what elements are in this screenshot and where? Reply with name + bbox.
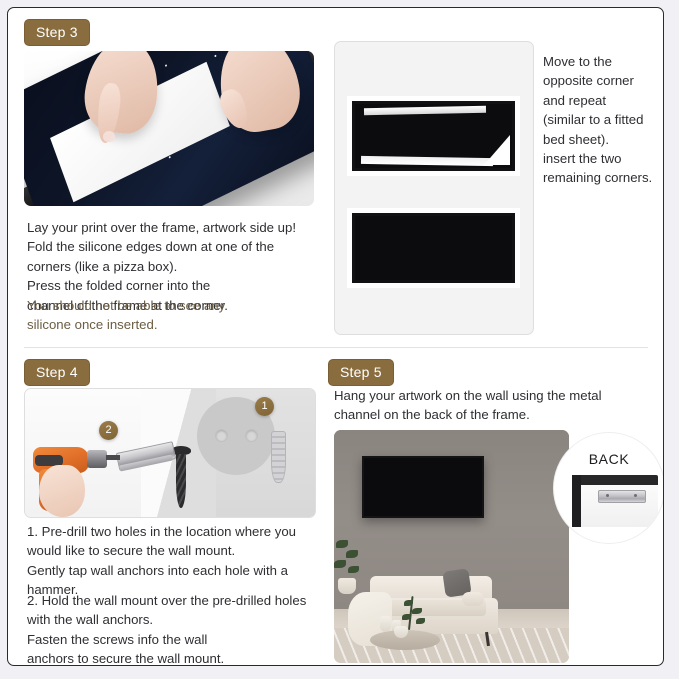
marker-badge-2: 2 [99, 421, 118, 440]
plant-leaf [404, 600, 413, 606]
corner-plant-pot [338, 578, 356, 594]
operator-hand [39, 465, 85, 517]
infographic-page: Step 3 [0, 0, 679, 679]
channel-screw [634, 494, 637, 497]
marker-badge-2-label: 2 [105, 425, 111, 436]
sofa-pillow-bolster [462, 592, 484, 606]
step-3-badge: Step 3 [24, 19, 90, 46]
drill-chuck [87, 450, 107, 468]
step-3-side-photo-panel [334, 41, 534, 335]
step-3-instructions-accent: You should not be able to see any silico… [27, 296, 315, 335]
step-4-badge: Step 4 [24, 359, 90, 386]
plant-leaf [416, 618, 425, 624]
step-3-side-photo-2 [347, 208, 520, 288]
corner-plant-leaf [348, 566, 359, 573]
step-3-photo [24, 51, 314, 206]
plant-leaf [402, 614, 411, 620]
back-callout-label: BACK [554, 451, 664, 467]
silicone-edge-top [364, 105, 487, 115]
marker-badge-1-label: 1 [261, 401, 267, 412]
step-4-instructions-2: 2. Hold the wall mount over the pre-dril… [27, 591, 319, 666]
step-5-instructions: Hang your artwork on the wall using the … [334, 386, 644, 425]
corner-plant-leaf [346, 550, 358, 558]
plant-leaf [412, 608, 422, 614]
step-3-badge-label: Step 3 [24, 19, 90, 46]
frame-back-left-edge [572, 475, 581, 527]
step-4-badge-label: Step 4 [24, 359, 90, 386]
step-4-photo: 2 1 [24, 388, 316, 518]
section-divider [24, 347, 648, 348]
drilled-hole-right [245, 429, 258, 442]
step-4-instructions-1: 1. Pre-drill two holes in the location w… [27, 522, 319, 600]
left-fingernail [103, 131, 115, 142]
drilled-hole-left [215, 429, 228, 442]
screw-shaft [176, 454, 186, 508]
decor-candle-left [380, 616, 391, 632]
hung-artwork [362, 456, 484, 518]
drill-bit [106, 455, 120, 460]
step-3-side-photo-1 [347, 96, 520, 176]
step-3-side-note: Move to the opposite corner and repeat (… [543, 52, 663, 188]
step-5-badge: Step 5 [328, 359, 394, 386]
silicone-edge-bottom [361, 156, 493, 166]
step-5-photo [334, 430, 569, 663]
frame-back-top-edge [572, 475, 658, 485]
silicone-corner-flap [484, 135, 510, 165]
wall-anchor [271, 431, 286, 483]
metal-hanging-channel [598, 490, 646, 503]
corner-plant-leaf [334, 560, 346, 568]
corner-plant-leaf [336, 540, 348, 548]
back-callout: BACK [554, 433, 664, 543]
marker-badge-1: 1 [255, 397, 274, 416]
step-5-badge-label: Step 5 [328, 359, 394, 386]
instruction-sheet: Step 3 [7, 7, 664, 666]
channel-screw [606, 494, 609, 497]
